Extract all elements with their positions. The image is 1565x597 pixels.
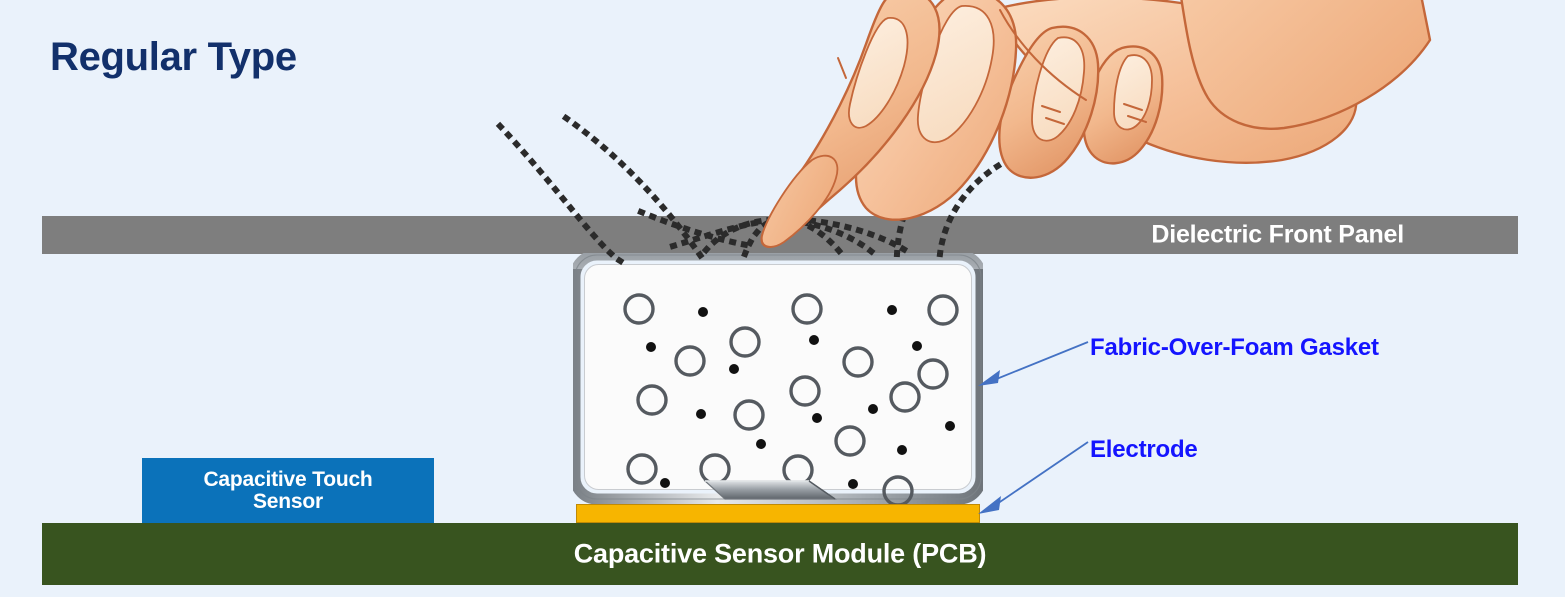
foam-cell-dot (696, 409, 706, 419)
foam-cell-dot (848, 479, 858, 489)
foam-cell-dot (756, 439, 766, 449)
hand-palm (1000, 0, 1356, 163)
nail-middle (918, 6, 994, 142)
fabric-over-foam-gasket (573, 253, 983, 505)
foam-cell-dot (698, 307, 708, 317)
foam-cell-dot (887, 305, 897, 315)
hand-wrist (1180, 0, 1430, 129)
foam-cell-dot (812, 413, 822, 423)
hand-contour (1000, 10, 1086, 100)
foam-cell-dot (729, 364, 739, 374)
finger-pinky (1084, 46, 1163, 163)
pcb-label: Capacitive Sensor Module (PCB) (42, 539, 1518, 570)
foam-cell-dot (660, 478, 670, 488)
foam-cell-dot (912, 341, 922, 351)
finger-middle (856, 0, 1016, 220)
capacitive-touch-sensor-label: Capacitive Touch Sensor (203, 469, 372, 512)
diagram-canvas: Regular Type Dielectric Front Panel (0, 0, 1565, 597)
nail-index (849, 18, 908, 128)
dielectric-front-panel-label: Dielectric Front Panel (1151, 221, 1404, 250)
foam-cell-dot (646, 342, 656, 352)
foam-cell-dot (897, 445, 907, 455)
knuckle-creases (838, 58, 1146, 124)
nail-pinky (1114, 55, 1152, 129)
dielectric-front-panel: Dielectric Front Panel (42, 216, 1518, 254)
gasket-graphic (573, 253, 983, 505)
page-title: Regular Type (50, 35, 297, 80)
foam-cell-dot (868, 404, 878, 414)
capacitive-touch-sensor-callout: Capacitive Touch Sensor (142, 458, 434, 523)
finger-ring (999, 27, 1098, 178)
foam-cell-dot (809, 335, 819, 345)
electrode-strip (576, 504, 980, 523)
nail-ring (1032, 37, 1084, 140)
electrode-annotation-label: Electrode (1090, 436, 1198, 464)
foam-cell-dot (945, 421, 955, 431)
capacitive-sensor-module-pcb: Capacitive Sensor Module (PCB) (42, 523, 1518, 585)
gasket-annotation-arrow (970, 340, 1090, 390)
gasket-annotation-label: Fabric-Over-Foam Gasket (1090, 334, 1379, 362)
electrode-annotation-arrow (970, 440, 1090, 520)
finger-index (762, 0, 940, 247)
